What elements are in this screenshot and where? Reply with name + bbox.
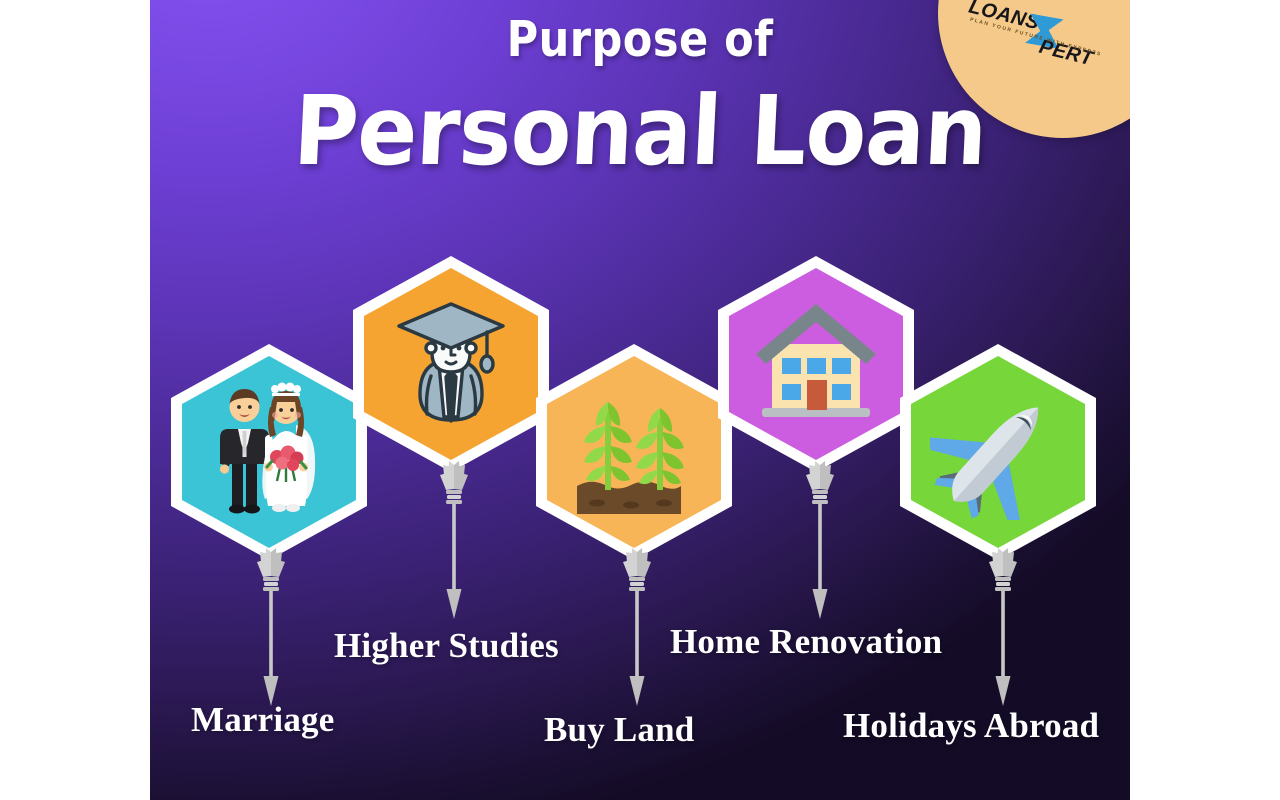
airplane-icon [930,384,1066,520]
infographic-page: LOANS PERT PLAN YOUR FUTURE WITH EXPERTS… [0,0,1280,800]
brand-logo-lockup: LOANS PERT PLAN YOUR FUTURE WITH EXPERTS [956,0,1128,98]
graduate-icon [387,298,515,430]
feathered-arrow-down-icon [620,546,654,706]
connector-arrow-higher-studies [437,459,471,619]
feathered-arrow-down-icon [986,546,1020,706]
feathered-arrow-down-icon [437,459,471,619]
step-hexagon-higher-studies[interactable] [353,256,549,472]
step-label-buy-land: Buy Land [544,710,694,750]
connector-arrow-buy-land [620,546,654,706]
step-label-marriage: Marriage [191,700,334,740]
step-hexagon-holidays-abroad[interactable] [900,344,1096,560]
feathered-arrow-down-icon [803,459,837,619]
step-label-higher-studies: Higher Studies [334,626,559,666]
plants-soil-icon [569,382,699,522]
house-icon [750,300,882,428]
step-label-holidays-abroad: Holidays Abroad [843,706,1099,746]
connector-arrow-home-renovation [803,459,837,619]
infographic-canvas: LOANS PERT PLAN YOUR FUTURE WITH EXPERTS… [150,0,1130,800]
page-title-line-2: Personal Loan [187,83,1093,181]
step-label-home-renovation: Home Renovation [670,622,942,662]
connector-arrow-marriage [254,546,288,706]
brand-logo-badge[interactable]: LOANS PERT PLAN YOUR FUTURE WITH EXPERTS [938,0,1130,138]
step-hexagon-marriage[interactable] [171,344,367,560]
wedding-couple-icon [204,377,334,527]
connector-arrow-holidays-abroad [986,546,1020,706]
step-hexagon-buy-land[interactable] [536,344,732,560]
step-hexagon-home-renovation[interactable] [718,256,914,472]
feathered-arrow-down-icon [254,546,288,706]
